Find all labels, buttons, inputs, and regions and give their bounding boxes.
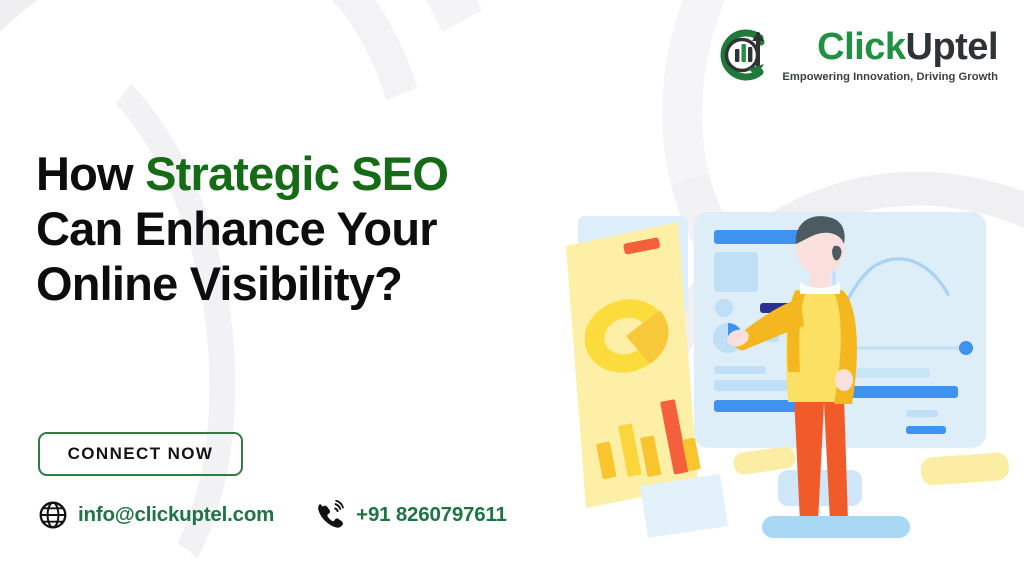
yellow-report-card: [566, 222, 701, 508]
connect-now-label: CONNECT NOW: [68, 444, 214, 464]
headline-line-1-plain: How: [36, 147, 145, 200]
brand-name-uptel: Uptel: [906, 26, 999, 68]
dashboard-image-placeholder: [714, 252, 758, 292]
email-text: info@clickuptel.com: [78, 503, 274, 527]
brand-logo[interactable]: ClickUptel Empowering Innovation, Drivin…: [714, 22, 998, 88]
seo-analytics-illustration: [548, 186, 1024, 546]
figure-pocket-hand: [835, 369, 853, 391]
brand-wordmark: ClickUptel: [817, 28, 998, 66]
dashboard-header-bar: [714, 230, 810, 244]
yellow-pill-accent-right: [920, 452, 1010, 486]
clickuptel-logo-mark-icon: [714, 22, 776, 88]
dashboard-text-line-6: [906, 410, 938, 417]
headline-line-1-accent: Strategic SEO: [145, 147, 448, 200]
dashboard-text-line-1: [714, 366, 766, 374]
phone-text: +91 8260797611: [356, 503, 507, 527]
brand-name-click: Click: [817, 26, 905, 68]
email-contact[interactable]: info@clickuptel.com: [38, 500, 274, 530]
phone-contact[interactable]: +91 8260797611: [314, 500, 507, 530]
contact-row: info@clickuptel.com +91 8260797611: [38, 500, 507, 530]
dashboard-avatar-dot: [715, 299, 733, 317]
brand-tagline: Empowering Innovation, Driving Growth: [782, 71, 998, 83]
headline-line-2: Can Enhance Your: [36, 202, 437, 255]
headline-line-3: Online Visibility?: [36, 257, 402, 310]
globe-icon: [38, 500, 68, 530]
logo-text-block: ClickUptel Empowering Innovation, Drivin…: [782, 28, 998, 83]
connect-now-button[interactable]: CONNECT NOW: [38, 432, 243, 476]
page-title: How Strategic SEO Can Enhance Your Onlin…: [36, 147, 448, 312]
phone-icon: [314, 500, 346, 530]
seo-marketing-banner: ClickUptel Empowering Innovation, Drivin…: [0, 0, 1024, 576]
chart-point-end: [959, 341, 973, 355]
blue-ground-bar: [762, 516, 910, 538]
dashboard-text-line-7: [906, 426, 946, 434]
